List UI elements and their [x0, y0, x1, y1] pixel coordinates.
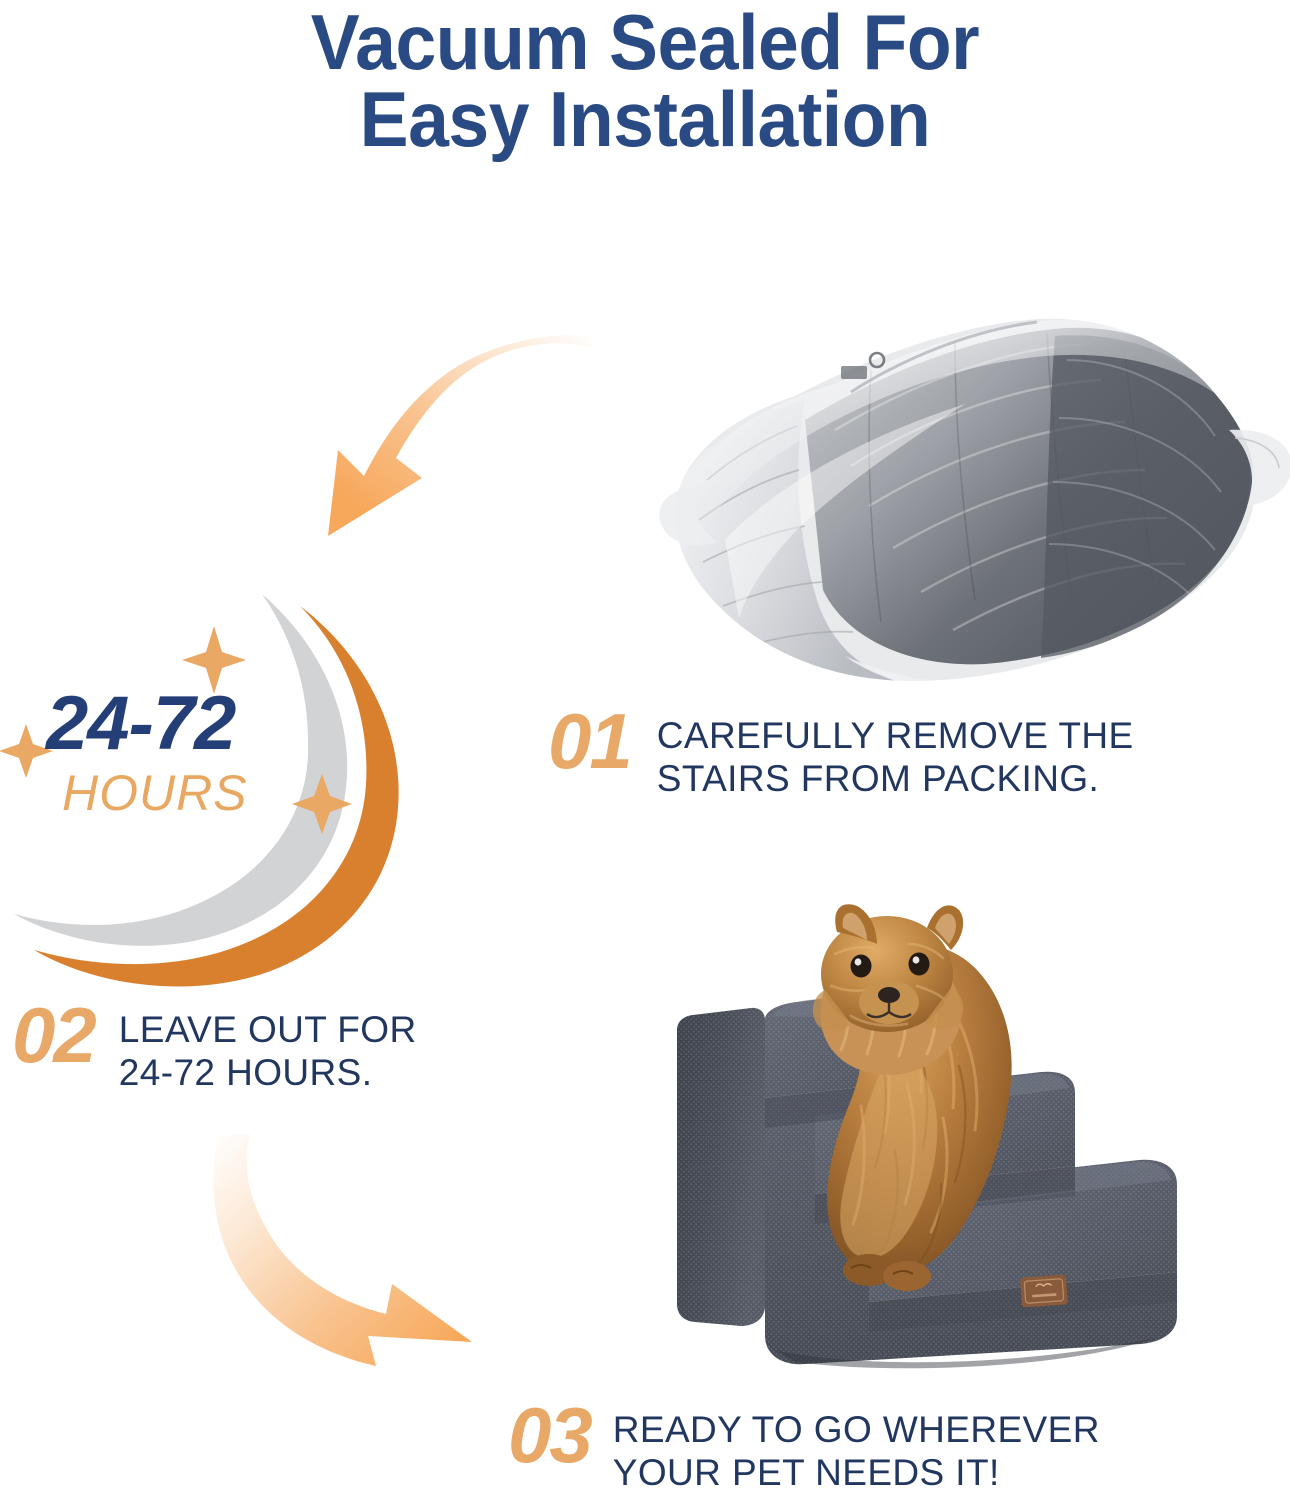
page-title: Vacuum Sealed For Easy Installation: [0, 4, 1290, 158]
step-item-03: 03 READY TO GO WHEREVER YOUR PET NEEDS I…: [508, 1400, 1100, 1495]
curved-arrow-down-left-icon: [300, 318, 600, 573]
step-text-03: READY TO GO WHEREVER YOUR PET NEEDS IT!: [591, 1400, 1100, 1495]
duration-badge: 24-72 HOURS: [0, 592, 440, 992]
badge-number: 24-72: [46, 680, 235, 767]
step-text-02: LEAVE OUT FOR 24-72 HOURS.: [95, 1000, 417, 1095]
step-item-01: 01 CAREFULLY REMOVE THE STAIRS FROM PACK…: [548, 706, 1134, 801]
step-text-01: CAREFULLY REMOVE THE STAIRS FROM PACKING…: [631, 706, 1134, 801]
title-line-1: Vacuum Sealed For: [39, 4, 1252, 81]
brand-leather-tag: [1020, 1274, 1068, 1307]
step-number-03: 03: [508, 1400, 591, 1472]
step-number-01: 01: [548, 706, 631, 778]
curved-arrow-down-right-icon: [180, 1128, 530, 1383]
badge-unit: HOURS: [62, 764, 248, 822]
title-line-2: Easy Installation: [39, 81, 1252, 158]
step-item-02: 02 LEAVE OUT FOR 24-72 HOURS.: [12, 1000, 417, 1095]
step-number-02: 02: [12, 1000, 95, 1072]
vacuum-sealed-package-photo: [655, 300, 1290, 700]
pet-stairs-with-dog-photo: [655, 898, 1290, 1388]
